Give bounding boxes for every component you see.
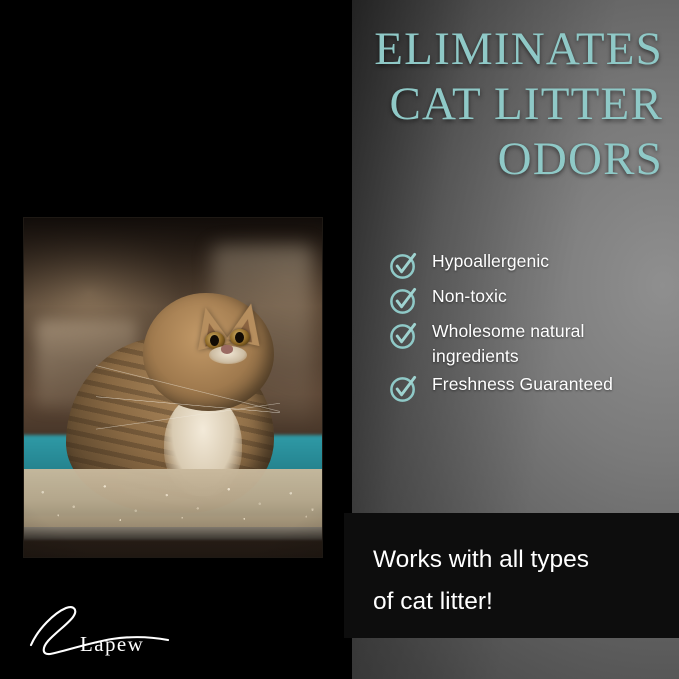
check-circle-icon bbox=[388, 320, 419, 351]
photo-vignette bbox=[24, 218, 322, 557]
list-item: Non-toxic bbox=[388, 284, 672, 316]
callout-line-2: of cat litter! bbox=[373, 581, 663, 623]
headline-line-2: CAT LITTER bbox=[143, 77, 663, 132]
callout-text: Works with all types of cat litter! bbox=[373, 539, 663, 623]
list-item-label: Wholesome natural ingredients bbox=[432, 319, 672, 369]
list-item: Wholesome natural ingredients bbox=[388, 319, 672, 369]
list-item-label: Non-toxic bbox=[432, 284, 507, 309]
benefits-list: Hypoallergenic Non-toxic Wholesome natur… bbox=[388, 249, 672, 407]
list-item-label: Freshness Guaranteed bbox=[432, 372, 613, 397]
callout-line-1: Works with all types bbox=[373, 539, 663, 581]
kitten-photo bbox=[24, 218, 322, 557]
list-item: Hypoallergenic bbox=[388, 249, 672, 281]
page-title: ELIMINATES CAT LITTER ODORS bbox=[143, 22, 663, 187]
photo-scene bbox=[24, 218, 322, 557]
check-circle-icon bbox=[388, 285, 419, 316]
brand-logo: Lapew bbox=[28, 599, 178, 661]
check-circle-icon bbox=[388, 373, 419, 404]
check-circle-icon bbox=[388, 250, 419, 281]
brand-wordmark: Lapew bbox=[80, 632, 144, 657]
advertisement-image: ELIMINATES CAT LITTER ODORS bbox=[0, 0, 679, 679]
list-item: Freshness Guaranteed bbox=[388, 372, 672, 404]
list-item-label: Hypoallergenic bbox=[432, 249, 549, 274]
headline-line-1: ELIMINATES bbox=[143, 22, 663, 77]
headline-line-3: ODORS bbox=[143, 132, 663, 187]
callout-box: Works with all types of cat litter! bbox=[344, 513, 679, 638]
